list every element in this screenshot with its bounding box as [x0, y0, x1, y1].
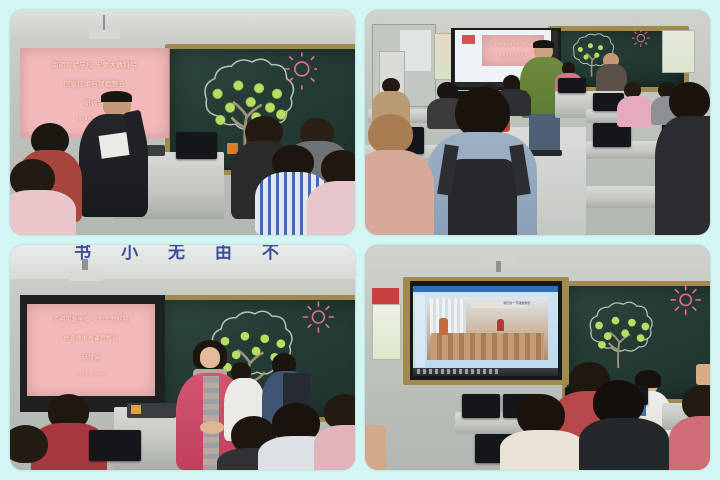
projector-body [89, 30, 120, 39]
audience-body [10, 190, 76, 235]
audience-body [669, 416, 710, 470]
speaker-face [200, 347, 221, 367]
foreground-attendee-head [669, 82, 710, 120]
laptop [558, 78, 586, 94]
student-monitor [89, 430, 141, 462]
backpack [448, 159, 517, 236]
whiteboard-sidebar-tools [415, 295, 425, 367]
wall-notice-right [662, 30, 695, 73]
whiteboard-titlebar [413, 286, 558, 293]
chalk-sun [627, 28, 655, 48]
presenter-papers [98, 132, 128, 158]
photo-top-right: 南明实验学校 安师大教科院 信息技术与课程整合 [365, 10, 710, 235]
slide-line-1: 南明实验学校 安师大教科院 [20, 60, 168, 69]
ceiling [10, 10, 355, 42]
banner-text: 书 小 无 由 不 [10, 245, 355, 263]
raised-hand [696, 364, 710, 384]
foreground-attendee-head [455, 87, 510, 139]
slide-line-4: 2018年11月13日 [27, 372, 155, 377]
desktop-monitor [176, 132, 217, 159]
slide-line-3: 研讨会 [27, 353, 155, 361]
foreground-attendee-shoulders [655, 116, 710, 235]
foreground-attendee-head [368, 114, 413, 155]
audience-body [307, 181, 355, 235]
photo-bottom-right: 我们的一节课堂教学 [365, 245, 710, 470]
slide-line-1: 南明实验学校 安师大教科院 [27, 315, 155, 323]
wall-poster-green [372, 304, 402, 360]
speaker-hands [200, 421, 224, 435]
audience-body [314, 425, 355, 470]
photo-collage: 南明实验学校 安师大教科院 信息技术与课程整合 研讨会 2018年11月13日 [0, 0, 720, 480]
student-monitor [462, 394, 500, 419]
equipment-indicator [131, 405, 141, 414]
whiteboard-toolbar-buttons [417, 369, 500, 374]
audience-body [500, 430, 586, 471]
audience-body [579, 418, 669, 470]
foreground-arm [365, 425, 386, 470]
displayed-classroom-photo [427, 297, 548, 360]
chalk-sun [285, 52, 317, 89]
projector-body [69, 270, 104, 281]
chalk-sun [665, 283, 706, 317]
displayed-photo-caption: 我们的一节课堂教学 [479, 301, 555, 305]
projector-body [479, 250, 517, 261]
presenter-hair [533, 40, 554, 48]
foreground-attendee-shoulders [365, 150, 434, 236]
slide-line-2: 信息技术与课程整合 [20, 79, 168, 88]
slide-line-2: 信息技术与课程整合 [27, 334, 155, 342]
chalk-sun [296, 299, 341, 335]
photo-top-left: 南明实验学校 安师大教科院 信息技术与课程整合 研讨会 2018年11月13日 [10, 10, 355, 235]
audience-head [10, 425, 48, 463]
presenter-jeans [529, 114, 560, 155]
photo-bottom-left: 书 小 无 由 不 [10, 245, 355, 470]
attendee-body [617, 96, 655, 128]
slide-logo-badge [462, 35, 476, 44]
wall-poster-red [372, 288, 400, 304]
presenter-hair [101, 91, 132, 102]
slide-line-3: 研讨会 [20, 98, 168, 107]
